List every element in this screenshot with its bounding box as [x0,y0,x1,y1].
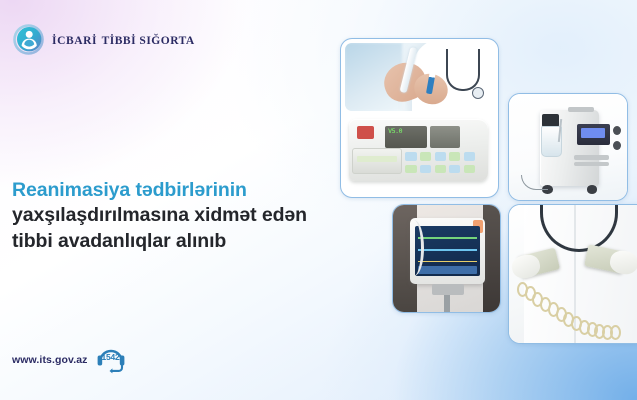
clinician-syringe-scene [345,43,494,111]
patient-monitor-photo[interactable] [392,204,501,313]
headline: Reanimasiya tədbirlərinin yaxşılaşdırılm… [12,178,342,254]
stethoscope-icon [446,49,480,91]
news-banner: İCBARİ TİBBİ SIĞORTA Reanimasiya tədbirl… [0,0,637,400]
vitals-waveform-screen [415,226,479,275]
headline-line-2: yaxşılaşdırılmasına xidmət edən [12,203,342,228]
headline-line-3: tibbi avadanlıqlar alınıb [12,229,342,254]
circle-person-icon [12,23,45,56]
infusion-pump-device: V5.0 [349,119,488,181]
infusion-pump-photo[interactable]: V5.0 [340,38,499,198]
footer: www.its.gov.az 1542 [12,345,127,375]
headline-line-1: Reanimasiya tədbirlərinin [12,178,342,203]
brand-line-1: İCBARİ [52,35,97,47]
pump-display-value: V5.0 [388,127,402,135]
defibrillator-paddles-photo[interactable] [508,204,637,344]
hotline-number: 1542 [95,352,127,362]
brand-logo[interactable]: İCBARİ TİBBİ SIĞORTA [12,23,195,56]
coiled-cable [517,280,628,338]
hotline-badge[interactable]: 1542 [95,345,127,375]
website-link[interactable]: www.its.gov.az [12,354,88,366]
oxygen-concentrator-photo[interactable] [508,93,628,201]
brand-wordmark: İCBARİ TİBBİ SIĞORTA [52,31,195,49]
brand-line-2: TİBBİ SIĞORTA [102,35,195,47]
